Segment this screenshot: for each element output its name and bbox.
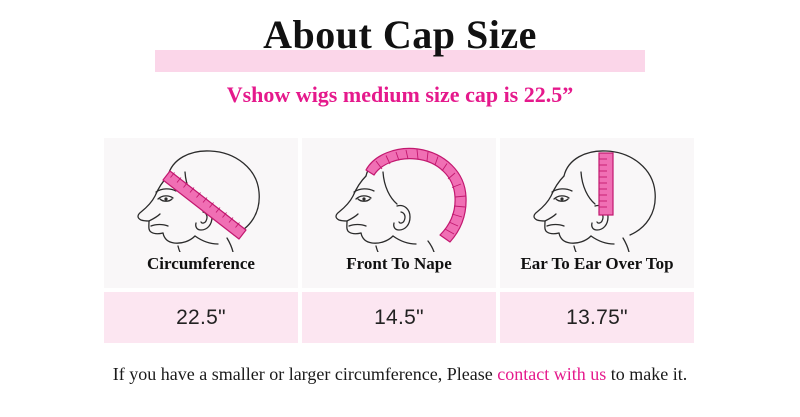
contact-us-link[interactable]: contact with us bbox=[497, 364, 606, 384]
footer-text-after: to make it. bbox=[606, 364, 687, 384]
table-cell-circumference: Circumference bbox=[104, 138, 298, 288]
footer-note: If you have a smaller or larger circumfe… bbox=[0, 362, 800, 386]
head-profile-front-to-nape-tape-icon bbox=[302, 142, 496, 252]
value-ear-to-ear-over-top: 13.75" bbox=[500, 292, 694, 343]
cap-size-table: Circumference bbox=[104, 138, 694, 343]
page-title: About Cap Size bbox=[0, 8, 800, 62]
table-cell-front-to-nape: Front To Nape bbox=[302, 138, 496, 288]
page-header: About Cap Size bbox=[0, 8, 800, 72]
column-label-front-to-nape: Front To Nape bbox=[346, 254, 452, 274]
table-header-row: Circumference bbox=[104, 138, 694, 288]
value-circumference: 22.5" bbox=[104, 292, 298, 343]
subtitle: Vshow wigs medium size cap is 22.5” bbox=[0, 82, 800, 108]
value-front-to-nape: 14.5" bbox=[302, 292, 496, 343]
table-cell-ear-to-ear-over-top: Ear To Ear Over Top bbox=[500, 138, 694, 288]
table-value-row: 22.5" 14.5" 13.75" bbox=[104, 292, 694, 343]
footer-text-before: If you have a smaller or larger circumfe… bbox=[113, 364, 497, 384]
column-label-ear-to-ear-over-top: Ear To Ear Over Top bbox=[520, 254, 673, 274]
column-label-circumference: Circumference bbox=[147, 254, 255, 274]
head-profile-circumference-tape-icon bbox=[104, 142, 298, 252]
head-profile-ear-to-ear-tape-icon bbox=[500, 142, 694, 252]
